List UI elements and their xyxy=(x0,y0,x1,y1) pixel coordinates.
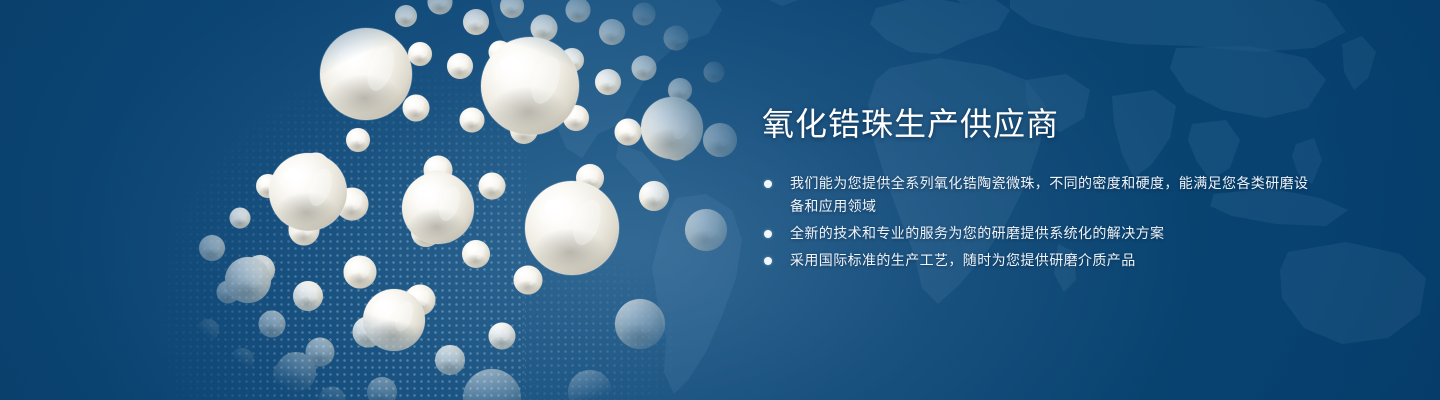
bullet-dot-icon xyxy=(764,257,772,265)
list-item-text: 采用国际标准的生产工艺，随时为您提供研磨介质产品 xyxy=(790,252,1136,268)
banner-headline: 氧化锆珠生产供应商 xyxy=(762,104,1322,144)
list-item: 全新的技术和专业的服务为您的研磨提供系统化的解决方案 xyxy=(762,222,1322,245)
list-item: 采用国际标准的生产工艺，随时为您提供研磨介质产品 xyxy=(762,249,1322,272)
list-item-text: 全新的技术和专业的服务为您的研磨提供系统化的解决方案 xyxy=(790,225,1164,241)
list-item-text: 我们能为您提供全系列氧化锆陶瓷微珠，不同的密度和硬度，能满足您各类研磨设备和应用… xyxy=(790,175,1308,214)
bullet-dot-icon xyxy=(764,230,772,238)
banner-copy: 氧化锆珠生产供应商 我们能为您提供全系列氧化锆陶瓷微珠，不同的密度和硬度，能满足… xyxy=(762,104,1322,276)
bullet-dot-icon xyxy=(764,180,772,188)
banner-feature-list: 我们能为您提供全系列氧化锆陶瓷微珠，不同的密度和硬度，能满足您各类研磨设备和应用… xyxy=(762,172,1322,272)
hero-banner: 氧化锆珠生产供应商 我们能为您提供全系列氧化锆陶瓷微珠，不同的密度和硬度，能满足… xyxy=(0,0,1440,400)
list-item: 我们能为您提供全系列氧化锆陶瓷微珠，不同的密度和硬度，能满足您各类研磨设备和应用… xyxy=(762,172,1322,218)
